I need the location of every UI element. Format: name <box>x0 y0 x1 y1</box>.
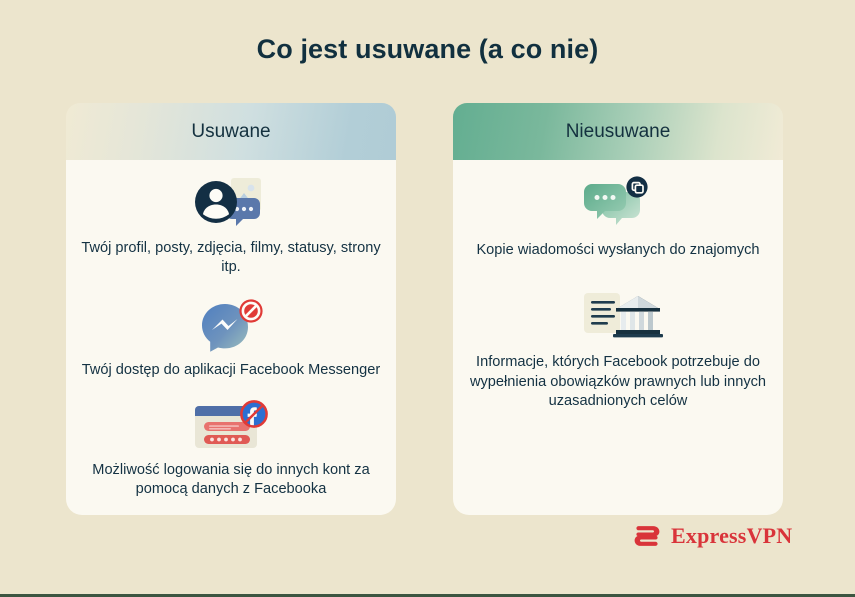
list-item: Informacje, których Facebook potrzebuje … <box>453 290 783 411</box>
list-item: Możliwość logowania się do innych kont z… <box>66 398 396 500</box>
messenger-blocked-icon <box>78 298 384 354</box>
list-item-text: Twój dostęp do aplikacji Facebook Messen… <box>78 361 384 380</box>
expressvpn-wordmark: ExpressVPN <box>671 523 792 549</box>
list-item-text: Informacje, których Facebook potrzebuje … <box>465 353 771 411</box>
list-item: Twój dostęp do aplikacji Facebook Messen… <box>66 298 396 380</box>
profile-photo-chat-icon <box>78 176 384 232</box>
column-header-deleted: Usuwane <box>66 103 396 160</box>
list-item-text: Możliwość logowania się do innych kont z… <box>78 461 384 500</box>
column-not-deleted: Nieusuwane <box>453 103 783 515</box>
document-courthouse-icon <box>465 290 771 346</box>
list-item-text: Kopie wiadomości wysłanych do znajomych <box>465 241 771 260</box>
column-header-label: Usuwane <box>191 121 270 143</box>
login-form-blocked-icon <box>78 398 384 454</box>
chat-bubbles-copy-icon <box>465 178 771 234</box>
expressvpn-mark-icon <box>632 521 662 551</box>
column-header-not-deleted: Nieusuwane <box>453 103 783 160</box>
list-item: Twój profil, posty, zdjęcia, filmy, stat… <box>66 176 396 278</box>
column-deleted: Usuwane <box>66 103 396 515</box>
column-header-label: Nieusuwane <box>566 121 671 143</box>
page-title: Co jest usuwane (a co nie) <box>0 34 855 65</box>
expressvpn-logo: ExpressVPN <box>632 521 792 551</box>
column-body-deleted: Twój profil, posty, zdjęcia, filmy, stat… <box>66 160 396 515</box>
column-body-not-deleted: Kopie wiadomości wysłanych do znajomych <box>453 160 783 515</box>
infographic-page: Co jest usuwane (a co nie) Usuwane <box>0 0 855 597</box>
list-item: Kopie wiadomości wysłanych do znajomych <box>453 178 783 260</box>
list-item-text: Twój profil, posty, zdjęcia, filmy, stat… <box>78 239 384 278</box>
